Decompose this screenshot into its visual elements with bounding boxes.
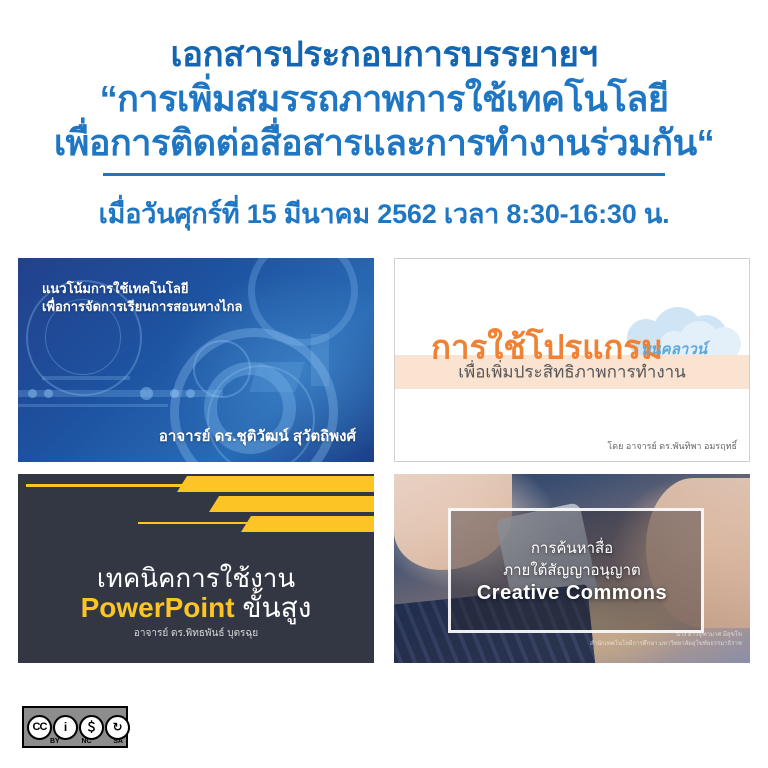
thumbnail-credit: นาง สาวจุฑามาศ มีสุขโข สำนักเทคโนโลยีการ… — [590, 631, 742, 649]
slide-thumbnail-grid: แนวโน้มการใช้เทคโนโลยี เพื่อการจัดการเรี… — [18, 258, 750, 663]
attribution-person-icon: i — [53, 715, 78, 740]
machine-shape-2 — [311, 334, 329, 386]
accent-line-bottom — [138, 522, 374, 524]
page-subtitle-line-1: “การเพิ่มสมรรถภาพการใช้เทคโนโลยี — [0, 77, 768, 121]
thumbnail-title-line-3: Creative Commons — [394, 582, 750, 605]
page-header: เอกสารประกอบการบรรยายฯ “การเพิ่มสมรรถภาพ… — [0, 0, 768, 235]
machine-rail-top — [42, 376, 130, 380]
thumbnail-title-brand: PowerPoint — [81, 592, 235, 623]
accent-stripe — [313, 496, 374, 512]
noncommercial-dollar-icon: ＄ — [79, 715, 104, 740]
thumbnail-credit-line-2: สำนักเทคโนโลยีการศึกษา มหาวิทยาลัยสุโขทั… — [590, 640, 742, 649]
thumbnail-title-line-2: เพื่อการจัดการเรียนการสอนทางไกล — [42, 298, 243, 316]
license-label-row: BY NC SA — [50, 738, 123, 745]
machine-dot — [28, 389, 37, 398]
page-title: เอกสารประกอบการบรรยายฯ — [0, 34, 768, 77]
accent-stripe — [265, 476, 374, 492]
thumbnail-title-line-2: ภายใต้สัญญาอนุญาต — [394, 558, 750, 582]
license-label-sa: SA — [113, 738, 123, 745]
machine-dot — [140, 387, 153, 400]
thumbnail-elearning-trends[interactable]: แนวโน้มการใช้เทคโนโลยี เพื่อการจัดการเรี… — [18, 258, 374, 462]
sharealike-arrow-icon: ↻ — [105, 715, 130, 740]
machine-rail-low — [18, 404, 168, 407]
thumbnail-author: โดย อาจารย์ ดร.พันทิพา อมรฤทธิ์ — [607, 439, 737, 453]
thumbnail-title-blue: บนคลาวน์ — [641, 337, 707, 361]
license-icon-row: CC i ＄ ↻ — [24, 715, 130, 740]
header-divider — [103, 173, 665, 176]
machine-dot — [170, 389, 179, 398]
thumbnail-author: อาจารย์ ดร.พิทธพันธ์ บุตรฉุย — [18, 626, 374, 641]
accent-stripe — [325, 516, 374, 532]
thumbnail-powerpoint-advanced[interactable]: เทคนิคการใช้งาน PowerPoint ขั้นสูง อาจาร… — [18, 474, 374, 663]
machine-dot — [186, 389, 195, 398]
cc-icon: CC — [27, 715, 52, 740]
thumbnail-title-line-1: แนวโน้มการใช้เทคโนโลยี — [42, 280, 243, 298]
license-label-by: BY — [50, 738, 60, 745]
thumbnail-creative-commons[interactable]: การค้นหาสื่อ ภายใต้สัญญาอนุญาต Creative … — [394, 474, 750, 663]
thumbnail-cloud-programs[interactable]: การใช้โปรแกรม บนคลาวน์ เพื่อเพิ่มประสิทธ… — [394, 258, 750, 462]
creative-commons-license-badge[interactable]: CC i ＄ ↻ BY NC SA — [22, 706, 128, 748]
thumbnail-subtitle: เพื่อเพิ่มประสิทธิภาพการทำงาน — [395, 359, 749, 386]
thumbnail-credit-line-1: นาง สาวจุฑามาศ มีสุขโข — [590, 631, 742, 640]
page-subtitle-line-2: เพื่อการติดต่อสื่อสารและการทำงานร่วมกัน“ — [0, 121, 768, 165]
thumbnail-author: อาจารย์ ดร.ชุติวัฒน์ สุวัตถิพงศ์ — [159, 424, 356, 448]
thumbnail-title: แนวโน้มการใช้เทคโนโลยี เพื่อการจัดการเรี… — [42, 280, 243, 317]
thumbnail-title-suffix: ขั้นสูง — [242, 592, 311, 623]
thumbnail-title-line-1: การค้นหาสื่อ — [394, 536, 750, 560]
machine-dot — [44, 389, 53, 398]
thumbnail-title-line-2: PowerPoint ขั้นสูง — [18, 586, 374, 630]
machine-shape-1 — [249, 362, 305, 392]
license-label-nc: NC — [81, 738, 91, 745]
event-date-time: เมื่อวันศุกร์ที่ 15 มีนาคม 2562 เวลา 8:3… — [0, 192, 768, 235]
